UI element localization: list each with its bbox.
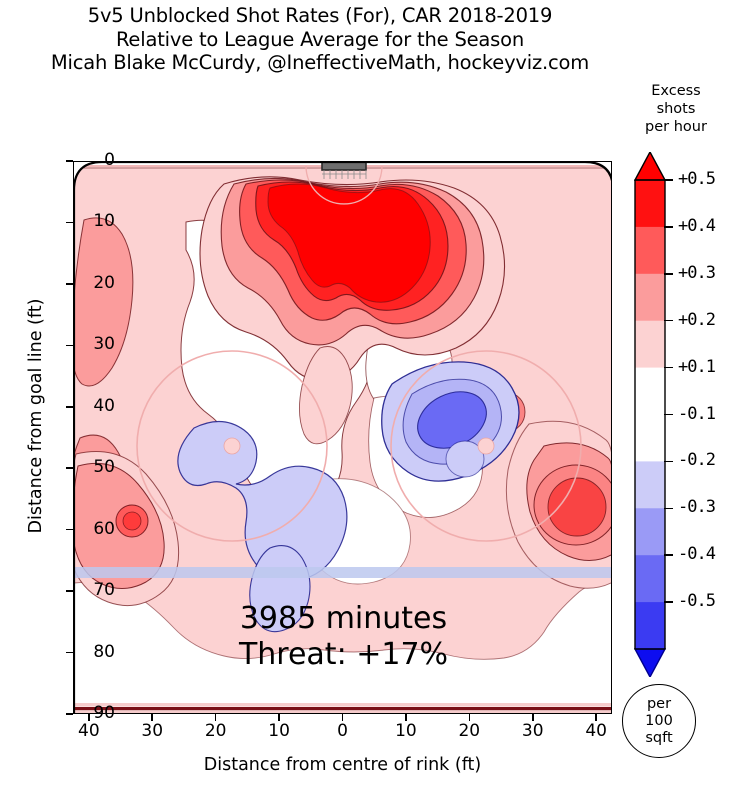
colorbar-band [635, 274, 665, 322]
colorbar-tick-mark [664, 367, 673, 369]
x-tick-label: 40 [69, 723, 109, 740]
colorbar-tick-mark [664, 226, 673, 228]
x-tick-mark [405, 714, 407, 721]
minutes-annotation: 3985 minutes [74, 602, 612, 636]
x-axis-label: Distance from centre of rink (ft) [73, 755, 612, 775]
colorbar-over-arrow [635, 152, 665, 180]
y-tick-label: 10 [93, 213, 115, 230]
y-tick-label: 70 [93, 582, 115, 599]
colorbar-band [635, 415, 665, 463]
colorbar-tick-mark [664, 601, 673, 603]
colorbar-under-arrow [635, 649, 665, 677]
x-tick-label: 40 [576, 723, 616, 740]
colorbar-band [635, 368, 665, 416]
colorbar-tick-label: -0.1 [678, 406, 715, 423]
colorbar-tick-mark [664, 179, 673, 181]
per-area-unit-badge: per 100 sqft [622, 684, 696, 758]
colorbar-title: Excess shots per hour [622, 82, 730, 136]
colorbar-tick-mark [664, 508, 673, 510]
y-tick-mark [66, 590, 73, 592]
y-tick-mark [66, 283, 73, 285]
y-tick-label: 40 [93, 398, 115, 415]
colorbar-tick-label: +0.1 [678, 359, 715, 376]
y-tick-label: 30 [93, 336, 115, 353]
x-tick-mark [595, 714, 597, 721]
y-tick-mark [66, 652, 73, 654]
colorbar-tick-label: -0.5 [678, 593, 715, 610]
colorbar-tick-mark [664, 554, 673, 556]
y-axis-label: Distance from goal line (ft) [26, 136, 46, 696]
y-tick-mark [66, 713, 73, 715]
y-tick-label: 60 [93, 521, 115, 538]
x-tick-mark [532, 714, 534, 721]
chart-title-block: 5v5 Unblocked Shot Rates (For), CAR 2018… [0, 4, 640, 75]
x-tick-mark [469, 714, 471, 721]
y-tick-label: 90 [93, 705, 115, 722]
unit-line-2: 100 [645, 713, 673, 730]
colorbar-tick-label: -0.2 [678, 452, 715, 469]
x-tick-mark [215, 714, 217, 721]
x-tick-label: 10 [259, 723, 299, 740]
y-tick-label: 50 [93, 459, 115, 476]
y-tick-label: 20 [93, 275, 115, 292]
title-line-3: Micah Blake McCurdy, @IneffectiveMath, h… [0, 51, 640, 75]
title-line-2: Relative to League Average for the Seaso… [0, 28, 640, 52]
colorbar-band [635, 180, 665, 228]
colorbar-band [635, 508, 665, 556]
title-line-1: 5v5 Unblocked Shot Rates (For), CAR 2018… [0, 4, 640, 28]
colorbar-tick-label: -0.3 [678, 499, 715, 516]
x-tick-mark [342, 714, 344, 721]
colorbar-tick-label: +0.4 [678, 218, 715, 235]
colorbar-band [635, 461, 665, 509]
y-tick-mark [66, 529, 73, 531]
x-tick-mark [151, 714, 153, 721]
colorbar-tick-label: -0.4 [678, 546, 715, 563]
x-tick-label: 20 [196, 723, 236, 740]
colorbar-title-line-3: per hour [622, 118, 730, 136]
colorbar-tick-label: +0.3 [678, 265, 715, 282]
y-tick-mark [66, 160, 73, 162]
colorbar-band [635, 227, 665, 275]
x-tick-mark [278, 714, 280, 721]
threat-annotation: Threat: +17% [74, 638, 612, 672]
colorbar-tick-mark [664, 461, 673, 463]
x-tick-mark [88, 714, 90, 721]
rink-heatmap-plot: 3985 minutes Threat: +17% [73, 161, 612, 714]
y-tick-mark [66, 406, 73, 408]
y-tick-label: 0 [104, 152, 115, 169]
y-tick-mark [66, 222, 73, 224]
x-tick-label: 30 [132, 723, 172, 740]
x-tick-label: 20 [449, 723, 489, 740]
unit-line-1: per [647, 696, 671, 713]
colorbar-gradient [634, 152, 666, 677]
colorbar-title-line-1: Excess [622, 82, 730, 100]
colorbar-band [635, 321, 665, 369]
x-tick-label: 0 [323, 723, 363, 740]
y-tick-mark [66, 345, 73, 347]
colorbar-tick-labels: +0.5+0.4+0.3+0.2+0.1-0.1-0.2-0.3-0.4-0.5 [664, 152, 730, 677]
colorbar-tick-label: +0.5 [678, 171, 715, 188]
colorbar-band [635, 602, 665, 650]
unit-line-3: sqft [645, 730, 672, 747]
x-tick-label: 10 [386, 723, 426, 740]
colorbar-tick-mark [664, 414, 673, 416]
colorbar-tick-mark [664, 320, 673, 322]
colorbar-band [635, 555, 665, 603]
y-tick-label: 80 [93, 644, 115, 661]
colorbar-tick-mark [664, 273, 673, 275]
y-tick-mark [66, 467, 73, 469]
colorbar-title-line-2: shots [622, 100, 730, 118]
colorbar-tick-label: +0.2 [678, 312, 715, 329]
x-tick-label: 30 [513, 723, 553, 740]
